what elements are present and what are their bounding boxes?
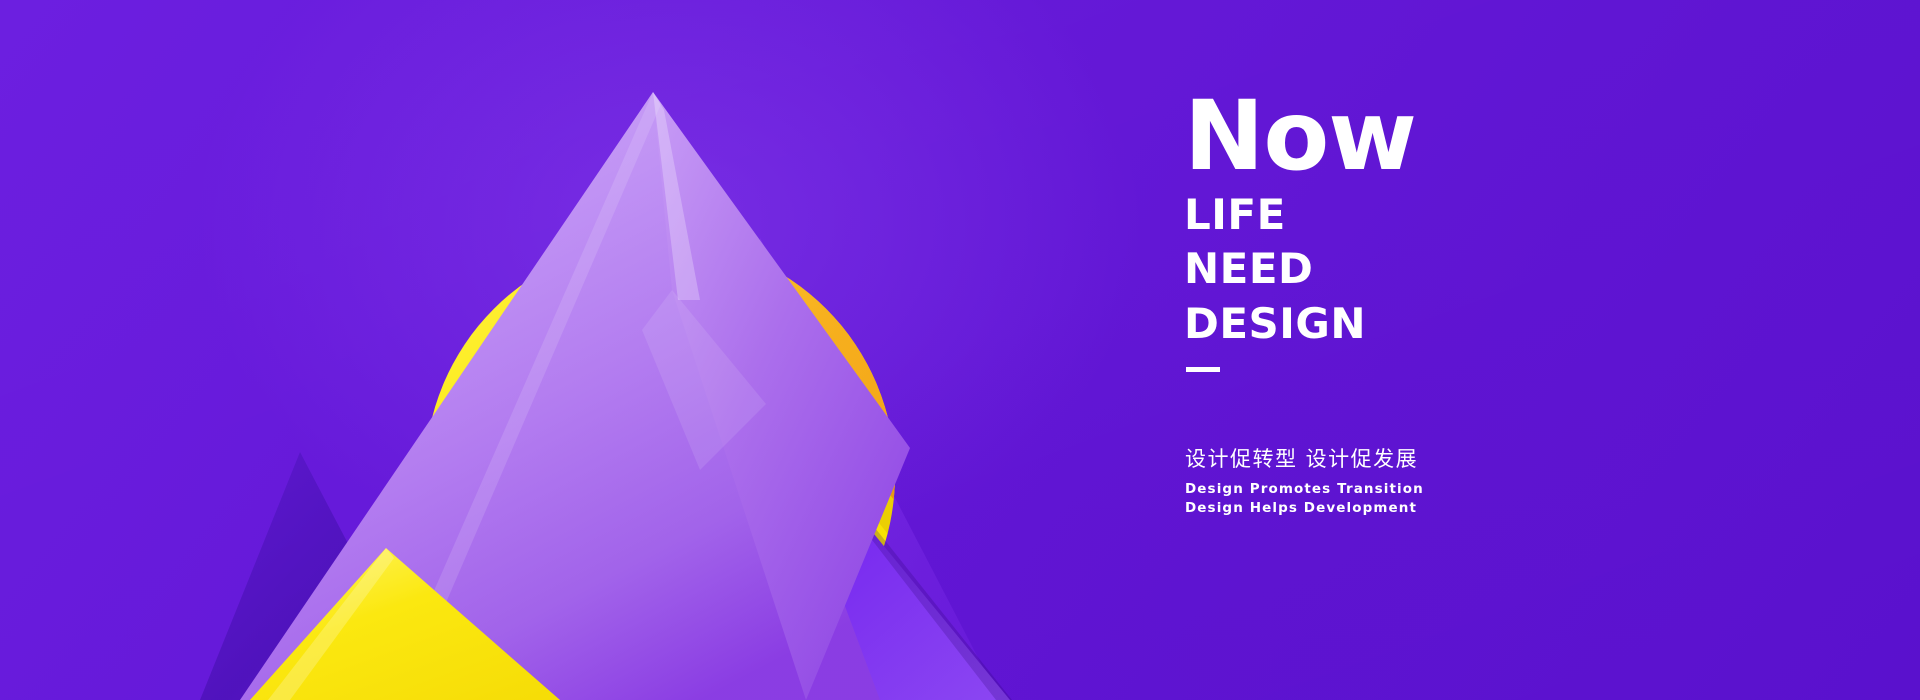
subcopy-english-line-1: Design Promotes Transition xyxy=(1185,481,1804,497)
tagline-line-design: DESIGN xyxy=(1184,302,1804,346)
headline-copy-block: Now LIFE NEED DESIGN 设计促转型 设计促发展 Design … xyxy=(1184,96,1804,519)
subcopy-english-line-2: Design Helps Development xyxy=(1185,500,1804,516)
design-poster-banner: Now LIFE NEED DESIGN 设计促转型 设计促发展 Design … xyxy=(0,0,1920,700)
tagline-line-life: LIFE xyxy=(1184,193,1804,237)
tagline-line-need: NEED xyxy=(1184,247,1804,291)
horizontal-rule-divider xyxy=(1186,367,1220,372)
subcopy-chinese: 设计促转型 设计促发展 xyxy=(1185,443,1804,473)
headline-now: Now xyxy=(1184,96,1804,177)
